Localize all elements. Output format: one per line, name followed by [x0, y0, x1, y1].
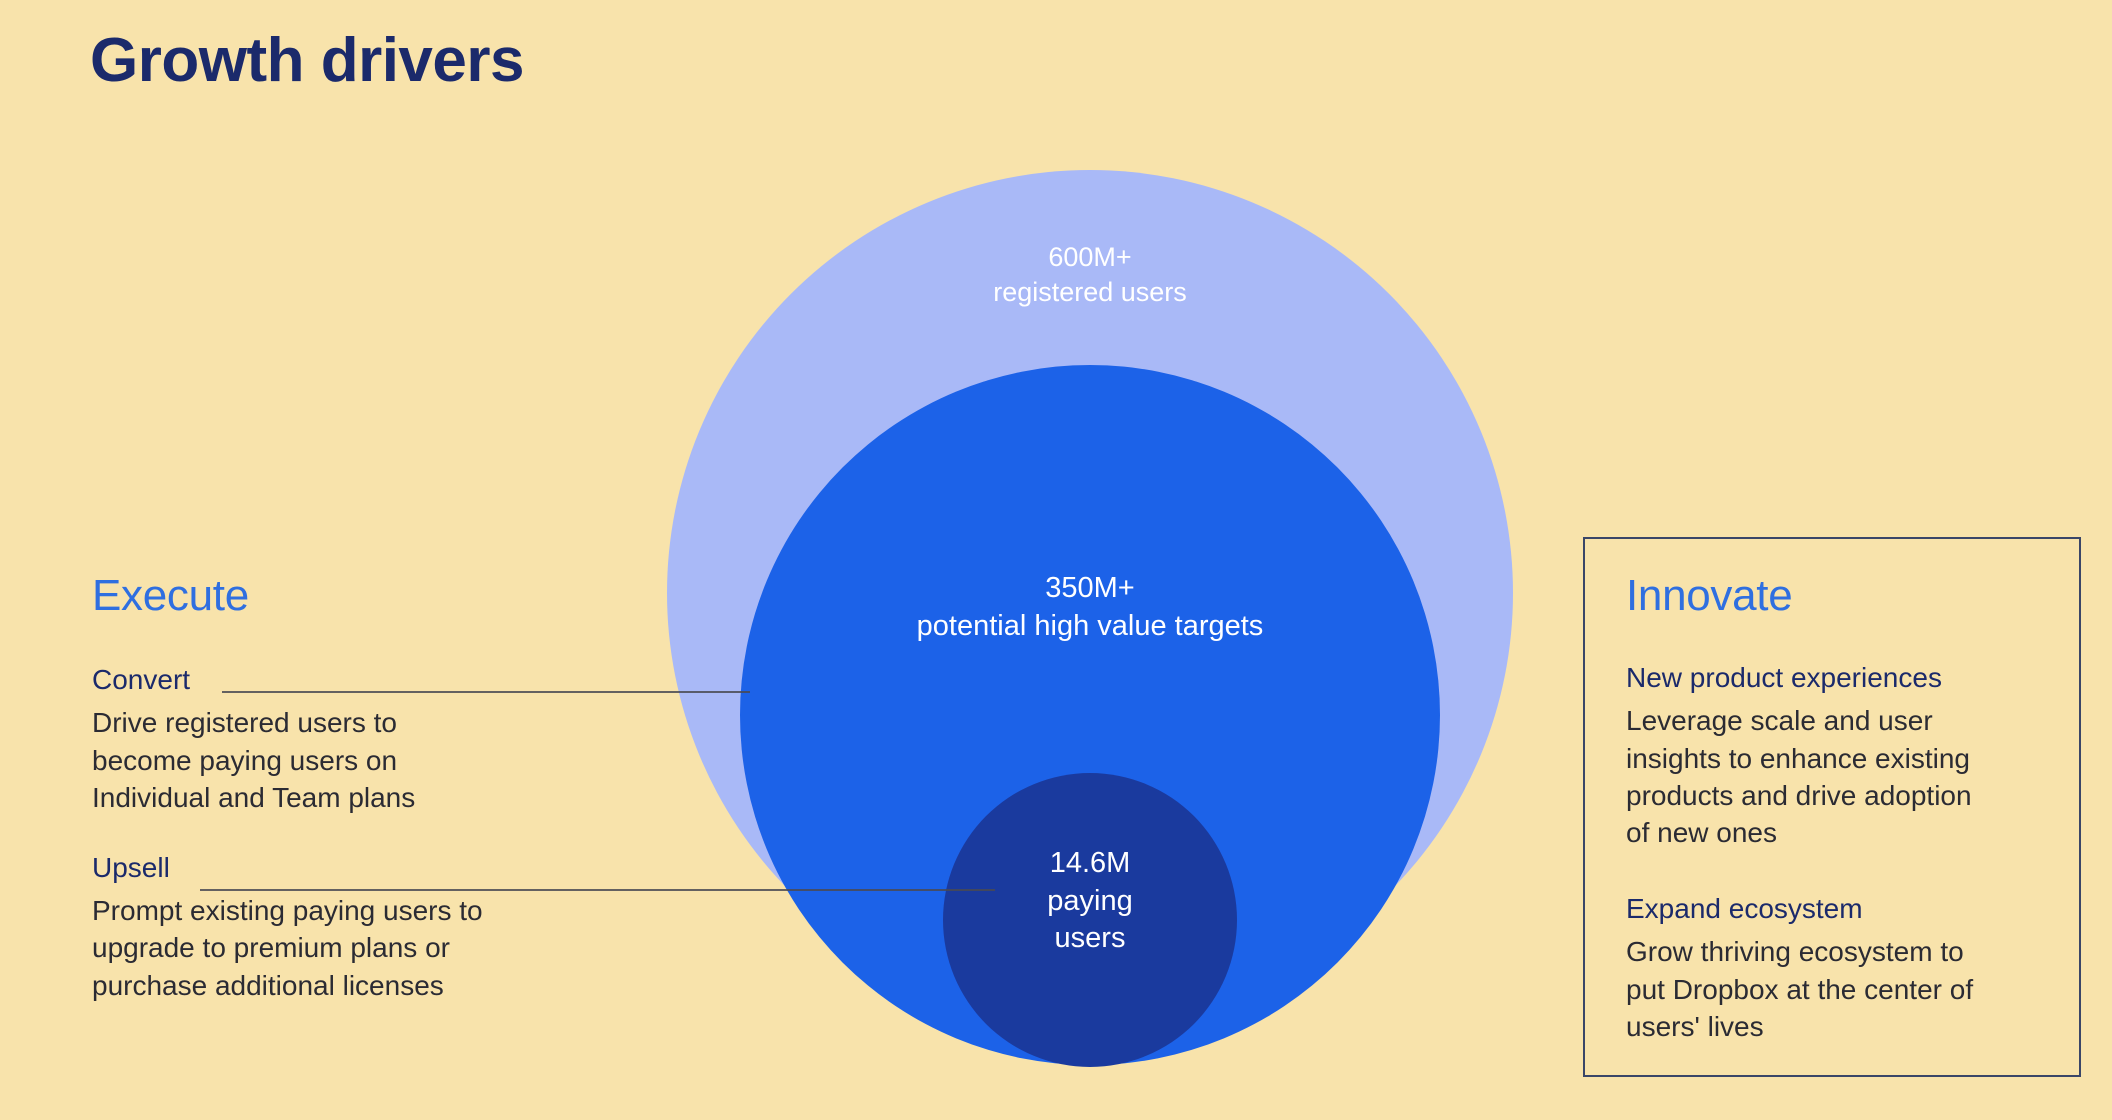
execute-column: Execute Convert Drive registered users t…: [92, 572, 592, 1004]
innovate-column: Innovate New product experiences Leverag…: [1626, 572, 2056, 1085]
execute-block-upsell-body: Prompt existing paying users to upgrade …: [92, 892, 592, 1004]
execute-block-upsell: Upsell Prompt existing paying users to u…: [92, 850, 592, 1004]
circle-label-high-value-targets: 350M+ potential high value targets: [790, 570, 1390, 645]
execute-block-convert: Convert Drive registered users to become…: [92, 662, 592, 816]
page-title: Growth drivers: [90, 28, 524, 93]
innovate-block-expand-ecosystem-title: Expand ecosystem: [1626, 891, 2056, 926]
innovate-heading: Innovate: [1626, 572, 2056, 620]
innovate-block-expand-ecosystem-body: Grow thriving ecosystem to put Dropbox a…: [1626, 933, 2056, 1045]
execute-block-upsell-title: Upsell: [92, 850, 592, 885]
innovate-block-new-product-experiences-body: Leverage scale and user insights to enha…: [1626, 702, 2056, 851]
circle-label-registered-users: 600M+ registered users: [790, 240, 1390, 310]
innovate-block-expand-ecosystem: Expand ecosystem Grow thriving ecosystem…: [1626, 891, 2056, 1045]
circle-label-paying-users: 14.6M paying users: [965, 845, 1215, 958]
circle-paying-users: [943, 773, 1237, 1067]
execute-block-convert-title: Convert: [92, 662, 592, 697]
execute-heading: Execute: [92, 572, 592, 620]
slide-root: Growth drivers 600M+ registered users 35…: [0, 0, 2112, 1120]
circle-high-value-targets: [740, 365, 1440, 1065]
innovate-block-new-product-experiences-title: New product experiences: [1626, 660, 2056, 695]
innovate-block-new-product-experiences: New product experiences Leverage scale a…: [1626, 660, 2056, 851]
execute-block-convert-body: Drive registered users to become paying …: [92, 704, 592, 816]
